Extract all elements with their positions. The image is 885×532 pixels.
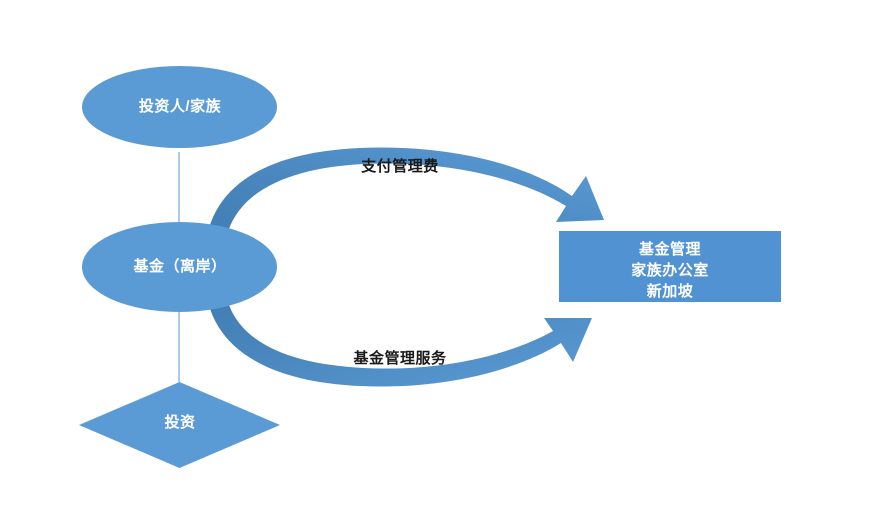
node-fund[interactable] [82, 222, 277, 312]
node-manager[interactable] [559, 231, 781, 302]
edge-label-fund-management-service: 基金管理服务 [280, 350, 520, 368]
diagram-canvas [0, 0, 885, 532]
node-investor[interactable] [82, 66, 277, 148]
arrow-fund-management-service [205, 276, 592, 387]
edge-label-pay-management-fee: 支付管理费 [280, 158, 520, 176]
node-investment[interactable] [79, 382, 280, 468]
